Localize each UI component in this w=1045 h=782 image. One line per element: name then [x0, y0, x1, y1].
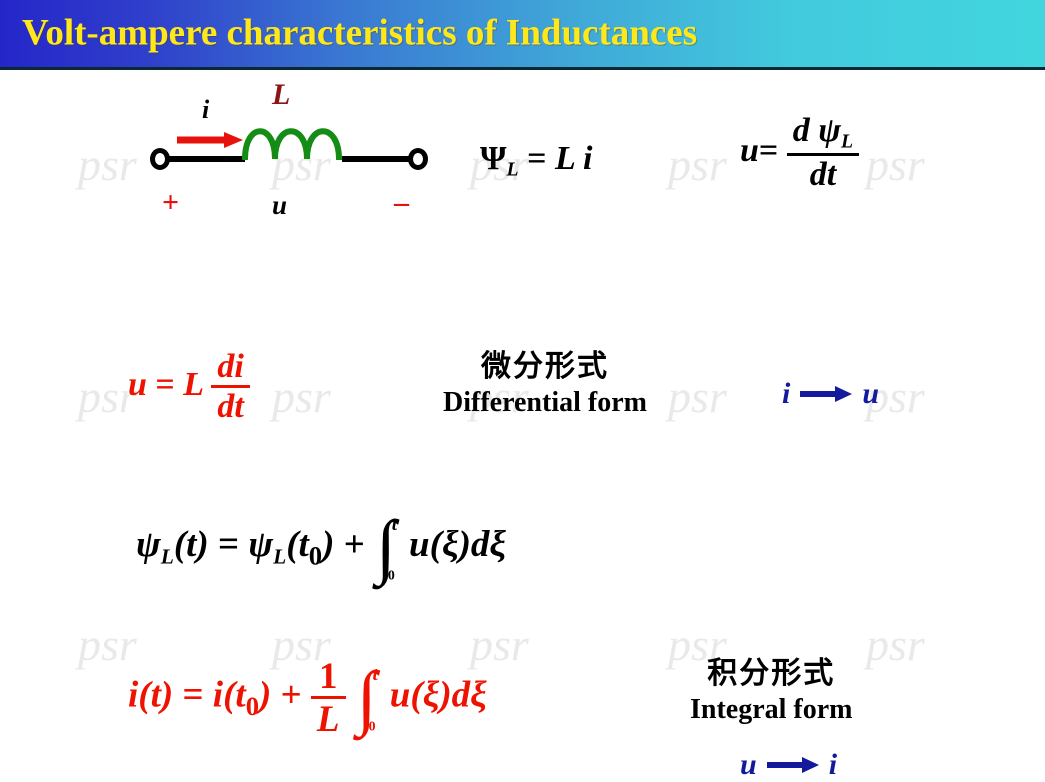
fraction-numerator: 1 — [311, 658, 346, 699]
current-direction-arrow-icon — [176, 130, 244, 150]
numerator-subscript: L — [841, 131, 853, 153]
didt-fraction: di dt — [211, 350, 249, 424]
page-title: Volt-ampere characteristics of Inductanc… — [22, 11, 697, 54]
integrand: u(ξ)dξ — [409, 524, 506, 565]
equals-sign: = — [759, 132, 778, 169]
plus-sign: + — [281, 674, 302, 715]
implication-source-symbol: u — [740, 748, 757, 782]
initial-current-close: ) — [259, 674, 271, 715]
implication-target-symbol: i — [829, 748, 837, 782]
equals-sign: = — [155, 366, 174, 403]
polarity-minus-label: – — [394, 186, 409, 220]
equation-flux-integral: ψL(t) = ψL(t0) + ∫ t t0 u(ξ)dξ — [136, 518, 506, 577]
fraction-denominator: dt — [787, 156, 859, 192]
voltage-symbol: u — [740, 132, 759, 169]
fraction-numerator: di — [211, 350, 249, 388]
differential-form-english: Differential form — [443, 387, 647, 419]
equals-sign: = — [218, 524, 239, 565]
differential-form-label: 微分形式 Differential form — [443, 341, 647, 419]
flux-symbol: Ψ — [480, 140, 507, 177]
flux-subscript: L — [507, 159, 519, 181]
initial-current-open: i(t — [213, 674, 246, 715]
integral-lower-limit: t0 — [363, 711, 375, 733]
equation-flux-linkage: ΨL = L i — [480, 142, 592, 180]
integral-operator: ∫ t t0 — [376, 518, 396, 577]
slide-title-bar: Volt-ampere characteristics of Inductanc… — [0, 0, 1045, 70]
fraction-denominator: L — [311, 699, 346, 738]
integral-lower-limit: t0 — [383, 560, 395, 582]
flux-symbol: ψ — [136, 524, 161, 565]
plus-sign: + — [344, 524, 365, 565]
implication-current-to-voltage: i u — [782, 377, 879, 411]
integral-form-english: Integral form — [690, 694, 853, 726]
inductor-coil-icon — [242, 118, 348, 160]
inductance-coefficient: L — [183, 366, 203, 403]
voltage-symbol: u — [128, 366, 147, 403]
right-arrow-icon — [799, 385, 853, 403]
implication-voltage-to-current: u i — [740, 748, 837, 782]
implication-source-symbol: i — [782, 377, 790, 411]
integral-operator: ∫ t t0 — [357, 669, 377, 728]
integral-upper-limit: t — [373, 665, 378, 684]
lower-limit-subscript: 0 — [369, 718, 376, 733]
one-over-L-fraction: 1 L — [311, 658, 346, 738]
left-terminal-node-icon — [150, 148, 170, 170]
initial-flux-subscript: L — [273, 544, 286, 568]
initial-flux-symbol: ψ — [248, 524, 273, 565]
inductance-label: L — [272, 78, 290, 112]
integrand: u(ξ)dξ — [390, 674, 487, 715]
right-terminal-node-icon — [408, 148, 428, 170]
equation-voltage-derivative: u= d ψL dt — [740, 114, 859, 192]
fraction-denominator: dt — [211, 388, 249, 424]
left-wire-segment — [169, 156, 245, 162]
derivative-fraction: d ψL dt — [787, 114, 859, 192]
voltage-label: u — [272, 190, 287, 221]
lower-limit-subscript: 0 — [388, 568, 395, 583]
flux-subscript: L — [161, 544, 174, 568]
equals-sign: = — [527, 140, 546, 177]
slide-content: i L u + – ΨL = L i u= d ψL dt u = L di d… — [0, 70, 1045, 746]
right-arrow-icon — [766, 756, 820, 774]
flux-argument: (t) — [174, 524, 209, 565]
differential-form-chinese: 微分形式 — [443, 341, 647, 385]
equation-current-integral: i(t) = i(t0) + 1 L ∫ t t0 u(ξ)dξ — [128, 658, 487, 738]
equation-voltage-inductance: u = L di dt — [128, 350, 250, 424]
right-wire-segment — [342, 156, 412, 162]
fraction-numerator: d ψL — [787, 114, 859, 156]
initial-time-subscript: 0 — [309, 541, 322, 571]
initial-time-open: (t — [286, 524, 309, 565]
current-of-t: i(t) — [128, 674, 173, 715]
current-label: i — [202, 95, 209, 125]
implication-target-symbol: u — [862, 377, 879, 411]
integral-form-chinese: 积分形式 — [690, 648, 853, 692]
flux-rhs: L i — [555, 140, 592, 177]
integral-upper-limit: t — [392, 515, 397, 534]
initial-current-subscript: 0 — [246, 691, 259, 721]
integral-form-label: 积分形式 Integral form — [690, 648, 853, 726]
polarity-plus-label: + — [162, 186, 179, 220]
initial-time-close: ) — [322, 524, 334, 565]
equals-sign: = — [182, 674, 203, 715]
inductor-circuit-diagram: i L u + – — [150, 90, 440, 240]
